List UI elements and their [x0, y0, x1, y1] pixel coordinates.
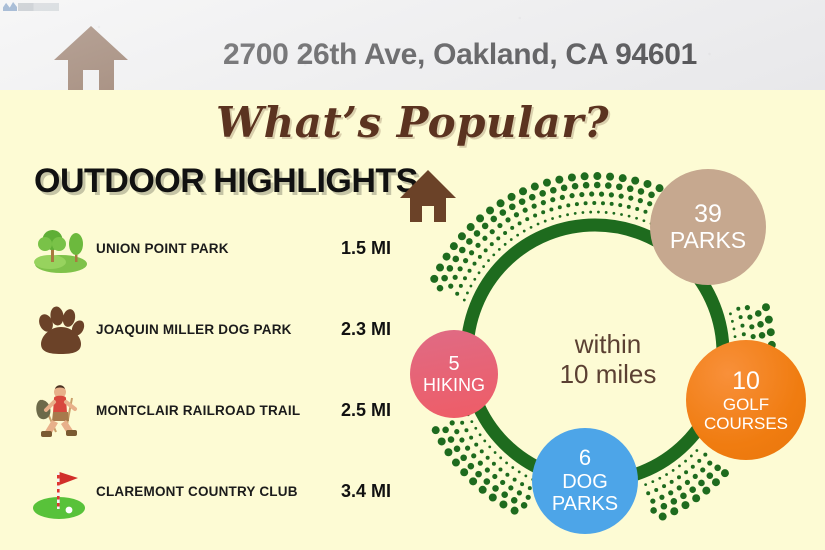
chart-bubble-dog-parks-value: 6	[579, 446, 591, 471]
within-10-miles-chart: within 10 miles 39 PARKS 10 GOLF COURSES…	[398, 168, 818, 543]
chart-center-line1: within	[518, 330, 698, 360]
logo-icon	[3, 1, 59, 12]
list-item-label: MONTCLAIR RAILROAD TRAIL	[96, 403, 341, 418]
list-item-label: CLAREMONT COUNTRY CLUB	[96, 484, 341, 499]
chart-bubble-golf-courses-label-2: COURSES	[704, 414, 788, 433]
chart-bubble-dog-parks-label-2: PARKS	[552, 493, 618, 515]
outdoor-highlights-heading: OUTDOOR HIGHLIGHTS	[34, 162, 418, 201]
park-trees-icon	[30, 218, 92, 280]
chart-bubble-golf-courses-value: 10	[732, 367, 760, 395]
page-title: 2700 26th Ave, Oakland, CA 94601	[0, 38, 825, 72]
list-item[interactable]: CLAREMONT COUNTRY CLUB 3.4 MI	[30, 451, 415, 532]
infographic-page: 2700 26th Ave, Oakland, CA 94601 What’s …	[0, 0, 825, 550]
chart-center-line2: 10 miles	[518, 360, 698, 390]
chart-bubble-dog-parks-label-1: DOG	[562, 471, 608, 493]
hiker-icon	[30, 380, 92, 442]
house-icon	[398, 168, 458, 222]
chart-bubble-hiking-label: HIKING	[423, 375, 485, 395]
list-item[interactable]: UNION POINT PARK 1.5 MI	[30, 208, 415, 289]
chart-bubble-hiking-value: 5	[448, 353, 459, 375]
header-band: 2700 26th Ave, Oakland, CA 94601	[0, 0, 825, 90]
logo-mark-icon	[3, 2, 17, 11]
chart-center-label: within 10 miles	[518, 330, 698, 389]
chart-bubble-parks-value: 39	[694, 200, 722, 228]
list-item-label: UNION POINT PARK	[96, 241, 341, 256]
outdoor-highlights-list: UNION POINT PARK 1.5 MI JOAQUIN MILLER D…	[30, 208, 415, 532]
paw-print-icon	[30, 299, 92, 361]
body-area: What’s Popular? OUTDOOR HIGHLIGHTS	[0, 90, 825, 550]
logo-wordmark	[18, 3, 59, 11]
chart-bubble-golf-courses[interactable]: 10 GOLF COURSES	[686, 340, 806, 460]
golf-flag-icon	[30, 461, 92, 523]
chart-bubble-golf-courses-label-1: GOLF	[723, 395, 769, 414]
list-item[interactable]: MONTCLAIR RAILROAD TRAIL 2.5 MI	[30, 370, 415, 451]
chart-bubble-dog-parks[interactable]: 6 DOG PARKS	[532, 428, 638, 534]
whats-popular-heading: What’s Popular?	[0, 98, 825, 147]
list-item-label: JOAQUIN MILLER DOG PARK	[96, 322, 341, 337]
chart-bubble-hiking[interactable]: 5 HIKING	[410, 330, 498, 418]
list-item[interactable]: JOAQUIN MILLER DOG PARK 2.3 MI	[30, 289, 415, 370]
chart-bubble-parks-label: PARKS	[670, 228, 746, 254]
chart-bubble-parks[interactable]: 39 PARKS	[650, 169, 766, 285]
